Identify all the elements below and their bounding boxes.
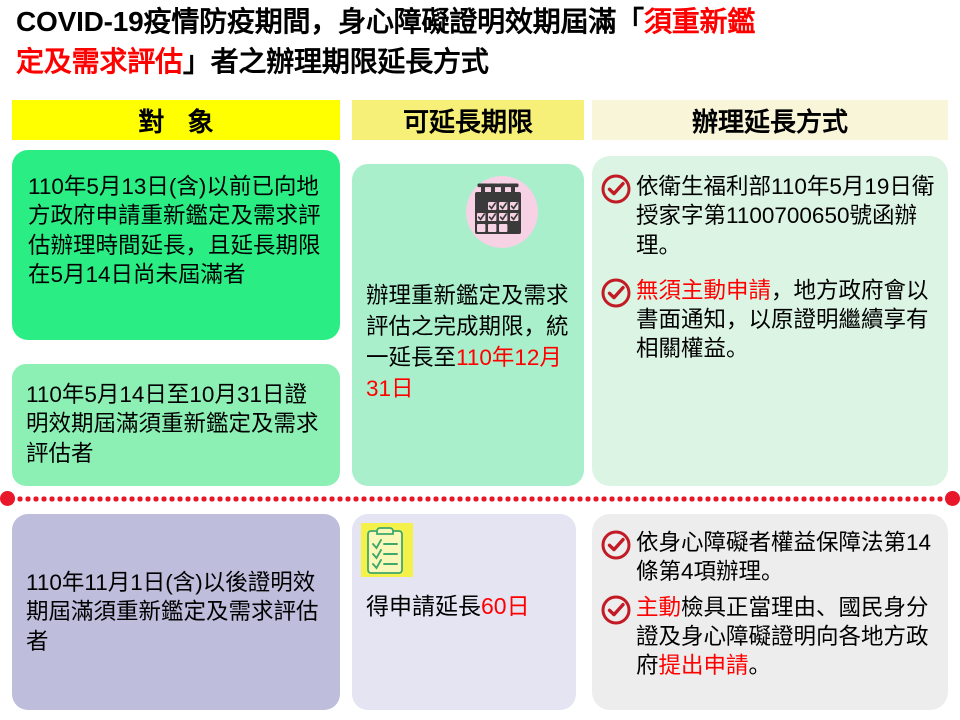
cell-period-row2: 得申請延長60日 [352,514,576,710]
method-row2-item-2-text: 主動檢具正當理由、國民身分證及身心障礙證明向各地方政府提出申請。 [636,593,938,681]
check-circle-icon [600,594,632,626]
method-row2-item-1-text: 依身心障礙者權益保障法第14條第4項辦理。 [636,528,938,587]
method-row1-item-2: 無須主動申請，地方政府會以書面通知，以原證明繼續享有相關權益。 [600,276,938,364]
method-row2-item-1: 依身心障礙者權益保障法第14條第4項辦理。 [600,528,938,587]
cell-target-may14-to-oct31: 110年5月14日至10月31日證明效期屆滿須重新鑑定及需求評估者 [12,364,340,486]
cell-target-after-nov1: 110年11月1日(含)以後證明效期屆滿須重新鑑定及需求評估者 [12,514,340,710]
method-row1-item-2-red: 無須主動申請 [636,278,771,303]
page-title: COVID-19疫情防疫期間，身心障礙證明效期屆滿「須重新鑑 定及需求評估」者之… [16,2,946,82]
cell-target-before-may13: 110年5月13日(含)以前已向地方政府申請重新鑑定及需求評估辦理時間延長，且延… [12,150,340,340]
column-header-method-label: 辦理延長方式 [692,102,848,139]
calendar-check-icon [464,174,540,250]
method-row2-item-2-red-1: 主動 [636,595,681,620]
column-header-method: 辦理延長方式 [592,100,948,140]
period-row2-text: 得申請延長60日 [366,592,566,622]
title-line1-segment-black: COVID-19疫情防疫期間，身心障礙證明效期屆滿「 [16,6,644,37]
method-row1-item-1-text: 依衛生福利部110年5月19日衛授家字第1100700650號函辦理。 [636,172,938,260]
target-after-nov1-text: 110年11月1日(含)以後證明效期屆滿須重新鑑定及需求評估者 [26,568,326,656]
target-before-may13-text: 110年5月13日(含)以前已向地方政府申請重新鑑定及需求評估辦理時間延長，且延… [28,172,326,289]
period-row1-text: 辦理重新鑑定及需求評估之完成期限，統一延長至110年12月31日 [366,280,572,404]
method-row1-item-2-text: 無須主動申請，地方政府會以書面通知，以原證明繼續享有相關權益。 [636,276,938,364]
method-row1-item-1: 依衛生福利部110年5月19日衛授家字第1100700650號函辦理。 [600,172,938,260]
method-row2-item-2-red-2: 提出申請 [659,653,749,678]
method-row2-item-2: 主動檢具正當理由、國民身分證及身心障礙證明向各地方政府提出申請。 [600,593,938,681]
column-header-target: 對 象 [12,100,340,140]
period-row2-text-red: 60日 [481,593,530,619]
divider [0,489,960,511]
method-row2-item-2-black-2: 。 [749,653,772,678]
clipboard-check-icon [360,522,418,584]
column-header-period: 可延長期限 [352,100,584,140]
divider-endcap-right [945,491,960,506]
check-circle-icon [600,277,632,309]
divider-dotted-line [8,495,952,503]
title-line2-segment-red: 定及需求評估 [16,46,183,77]
period-row2-text-black: 得申請延長 [366,593,481,619]
column-header-target-label: 對 象 [130,102,221,139]
cell-period-row1: 辦理重新鑑定及需求評估之完成期限，統一延長至110年12月31日 [352,164,584,486]
title-line1-segment-red: 須重新鑑 [644,6,755,37]
check-circle-icon [600,529,632,561]
check-circle-icon [600,173,632,205]
cell-method-row1: 依衛生福利部110年5月19日衛授家字第1100700650號函辦理。 無須主動… [592,156,948,486]
target-may14-to-oct31-text: 110年5月14日至10月31日證明效期屆滿須重新鑑定及需求評估者 [26,380,326,468]
title-line2-segment-black: 」者之辦理期限延長方式 [183,46,489,77]
cell-method-row2: 依身心障礙者權益保障法第14條第4項辦理。 主動檢具正當理由、國民身分證及身心障… [592,514,948,710]
column-header-period-label: 可延長期限 [403,102,533,139]
